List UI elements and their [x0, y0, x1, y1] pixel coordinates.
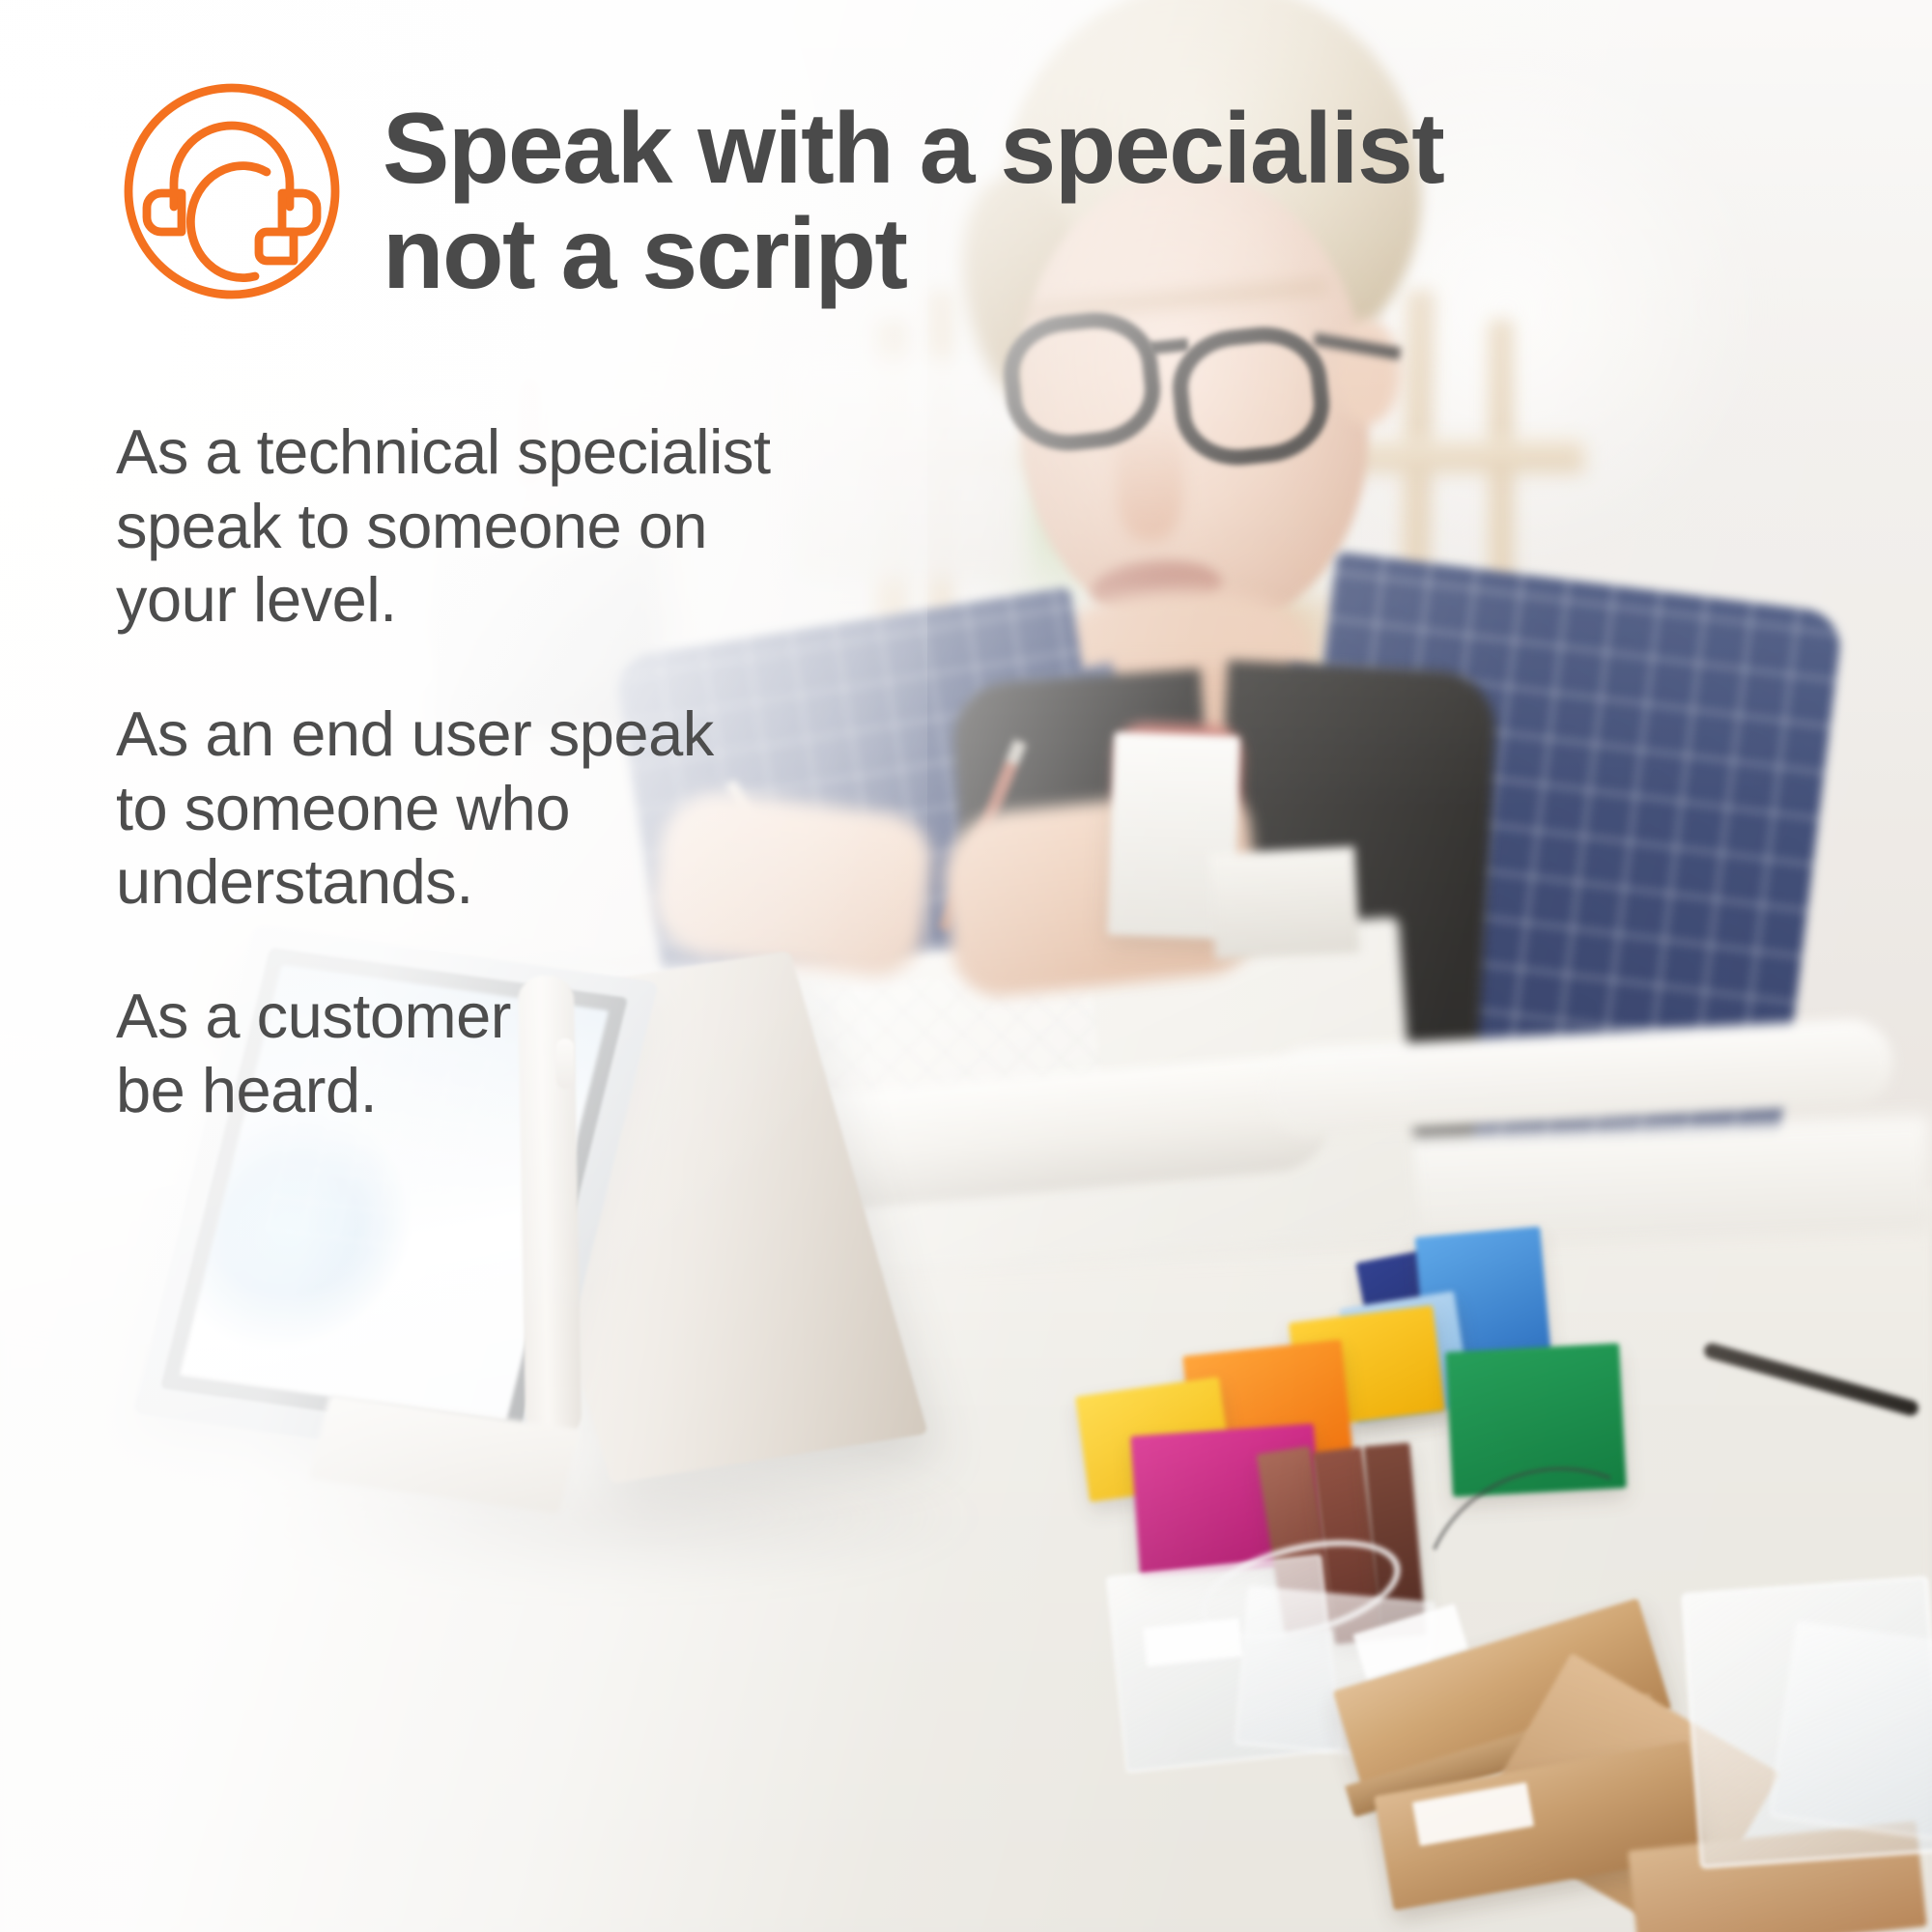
poster-content: Speak with a specialist not a script As …	[0, 0, 1932, 1932]
poster-canvas: Speak with a specialist not a script As …	[0, 0, 1932, 1932]
headset-support-icon	[116, 75, 348, 307]
body-paragraph-1: As a technical specialist speak to someo…	[116, 415, 879, 638]
page-title-line-1: Speak with a specialist	[383, 93, 1443, 205]
body-paragraph-2: As an end user speak to someone who unde…	[116, 697, 879, 920]
poster-body: As a technical specialist speak to someo…	[116, 415, 879, 1128]
page-title: Speak with a specialist not a script	[383, 75, 1443, 307]
page-title-line-2: not a script	[383, 202, 1443, 307]
body-paragraph-3: As a customer be heard.	[116, 980, 879, 1127]
poster-header: Speak with a specialist not a script	[116, 75, 1443, 307]
